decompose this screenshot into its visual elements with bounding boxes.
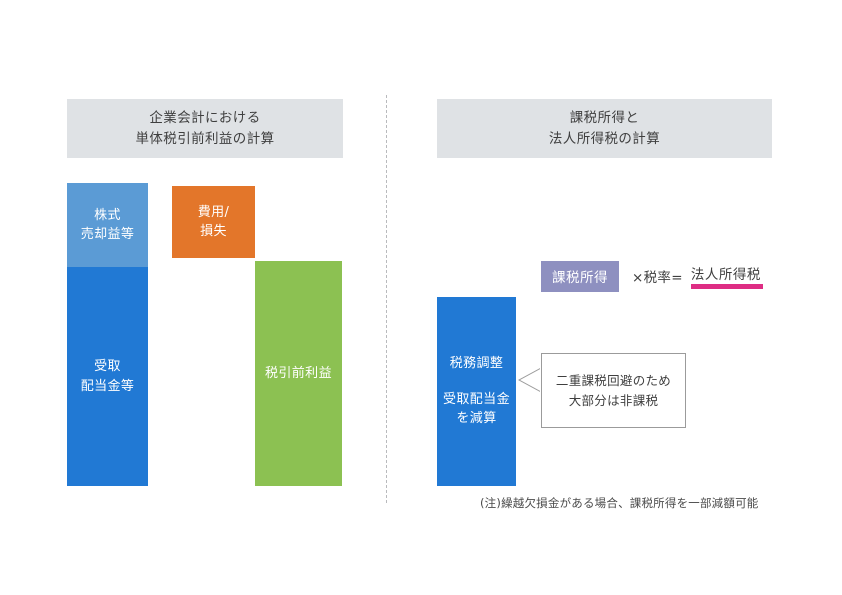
- bar-pretax-profit-label: 税引前利益: [265, 364, 332, 384]
- diagram-canvas: 企業会計における 単体税引前利益の計算 株式 売却益等 受取 配当金等 費用/ …: [0, 0, 842, 595]
- left-panel-header: 企業会計における 単体税引前利益の計算: [67, 99, 343, 158]
- bar-stock-gain-label-line1: 株式: [94, 206, 121, 226]
- bar-dividends-label-line1: 受取: [94, 357, 121, 377]
- bar-tax-adjustment-label-line2: 受取配当金: [443, 390, 510, 410]
- panel-divider: [386, 95, 387, 503]
- bar-stock-gain: 株式 売却益等: [67, 183, 148, 267]
- callout-note: 二重課税回避のため 大部分は非課税: [541, 353, 686, 428]
- right-panel-header-line1: 課税所得と: [570, 108, 640, 129]
- footnote: (注)繰越欠損金がある場合、課税所得を一部減額可能: [480, 495, 758, 511]
- bar-pretax-profit: 税引前利益: [255, 261, 342, 486]
- result-underline: [691, 284, 763, 289]
- bar-stock-gain-label-line2: 売却益等: [81, 225, 135, 245]
- callout-note-line2: 大部分は非課税: [569, 391, 659, 411]
- bar-tax-adjustment-label-line1: 税務調整: [450, 354, 504, 374]
- callout-note-line1: 二重課税回避のため: [556, 371, 671, 391]
- right-panel-header: 課税所得と 法人所得税の計算: [437, 99, 772, 158]
- bar-expense-loss-label-line1: 費用/: [198, 203, 230, 223]
- right-panel-header-line2: 法人所得税の計算: [549, 129, 660, 150]
- left-panel-header-line2: 単体税引前利益の計算: [136, 129, 275, 150]
- bar-tax-adjustment: 税務調整 受取配当金 を減算: [437, 297, 516, 486]
- bar-dividends-label-line2: 配当金等: [81, 377, 135, 397]
- chip-taxable-income: 課税所得: [541, 261, 619, 292]
- bar-expense-loss-label-line2: 損失: [200, 222, 227, 242]
- bar-expense-loss: 費用/ 損失: [172, 186, 255, 258]
- left-panel-header-line1: 企業会計における: [149, 108, 260, 129]
- bar-tax-adjustment-label-line3: を減算: [456, 409, 496, 429]
- result-corporate-tax-label: 法人所得税: [691, 267, 761, 283]
- formula-operator: ×税率=: [632, 266, 683, 286]
- bar-dividends-received: 受取 配当金等: [67, 267, 148, 486]
- result-corporate-tax: 法人所得税: [691, 263, 761, 289]
- tax-formula-row: 課税所得 ×税率= 法人所得税: [541, 262, 761, 290]
